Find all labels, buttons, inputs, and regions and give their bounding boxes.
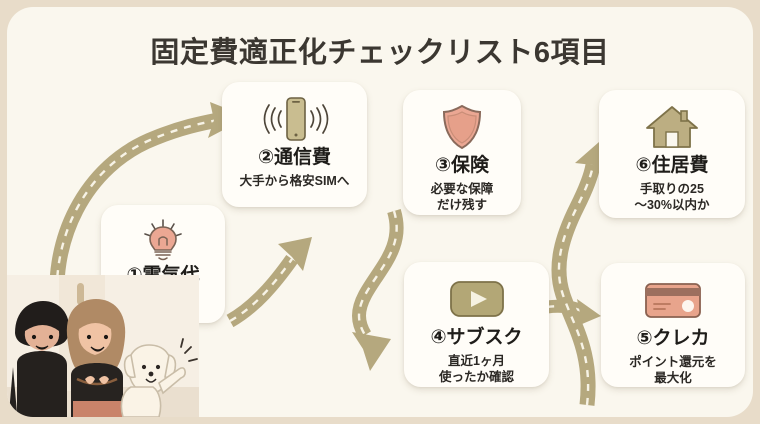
card-title: ③保険 bbox=[435, 155, 489, 177]
card-subtitle-line2: 使ったか確認 bbox=[439, 369, 514, 385]
arrow-3-to-4 bbox=[352, 211, 397, 371]
card-title: ②通信費 bbox=[258, 147, 331, 169]
card-subtitle-line1: 手取りの25 bbox=[640, 181, 704, 197]
card-title: ⑤クレカ bbox=[636, 328, 709, 350]
card-title: ④サブスク bbox=[430, 327, 522, 349]
card-subtitle-line1: ポイント還元を bbox=[629, 354, 717, 370]
shield-icon bbox=[440, 101, 484, 153]
card-subtitle-line2: ～30%以内か bbox=[634, 197, 709, 213]
smartphone-vibrating-icon bbox=[259, 93, 331, 145]
infographic-panel: 固定費適正化チェックリスト6項目 bbox=[7, 7, 753, 417]
card-tsushinhi[interactable]: ②通信費 大手から格安SIMへ bbox=[222, 82, 367, 207]
card-subtitle-line2: 最大化 bbox=[654, 370, 692, 386]
lightbulb-icon bbox=[140, 216, 186, 263]
card-subtitle-line2: だけ残す bbox=[437, 197, 487, 213]
card-kureka[interactable]: ⑤クレカ ポイント還元を 最大化 bbox=[601, 263, 745, 387]
figure-woman bbox=[67, 299, 125, 417]
card-subtitle-line1: 大手から格安SIMへ bbox=[240, 173, 350, 189]
house-icon bbox=[645, 101, 699, 153]
card-subtitle-line1: 直近1ヶ月 bbox=[448, 353, 505, 369]
infographic-canvas: 固定費適正化チェックリスト6項目 bbox=[0, 0, 760, 424]
card-hoken[interactable]: ③保険 必要な保障 だけ残す bbox=[403, 90, 521, 215]
credit-card-icon bbox=[643, 274, 703, 326]
card-jukyohi[interactable]: ⑥住居費 手取りの25 ～30%以内か bbox=[599, 90, 745, 218]
arrow-2-to-3 bbox=[230, 237, 312, 321]
card-subtitle-line1: 必要な保障 bbox=[431, 181, 494, 197]
couple-with-dog-illustration bbox=[7, 275, 199, 417]
card-title: ⑥住居費 bbox=[635, 155, 708, 177]
card-sabusuku[interactable]: ④サブスク 直近1ヶ月 使ったか確認 bbox=[404, 262, 549, 387]
play-button-icon bbox=[448, 273, 506, 325]
